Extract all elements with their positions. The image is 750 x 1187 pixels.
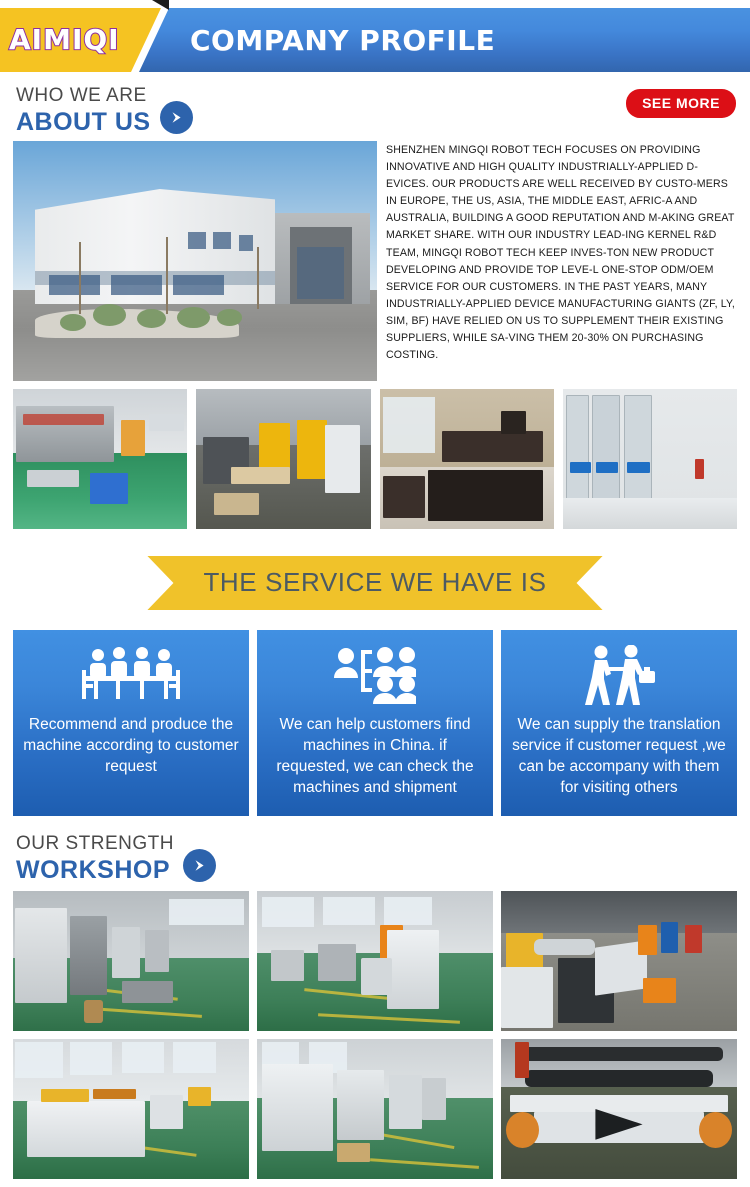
service-card-3-text: We can supply the translation service if…	[501, 706, 737, 798]
photo-corridor	[563, 389, 737, 529]
meeting-table-icon	[82, 644, 180, 706]
photo-production-line	[13, 389, 187, 529]
about-content: SHENZHEN MINGQI ROBOT TECH FOCUSES ON PR…	[0, 141, 750, 381]
photo-rewinding-aisle	[257, 891, 493, 1031]
org-chart-team-icon	[334, 644, 416, 706]
workshop-kicker: OUR STRENGTH	[16, 834, 174, 853]
service-card-2[interactable]: We can help customers find machines in C…	[257, 630, 493, 816]
page-title: COMPANY PROFILE	[190, 8, 495, 72]
workshop-heading-texts: OUR STRENGTH WORKSHOP	[16, 834, 174, 883]
workshop-photos-row-2	[0, 1039, 750, 1187]
brand-logo-text: AIMIQI	[0, 26, 120, 54]
about-photo-strip	[0, 381, 750, 529]
photo-assembly-area	[501, 891, 737, 1031]
about-heading-texts: WHO WE ARE ABOUT US	[16, 86, 151, 135]
workshop-section-header: OUR STRENGTH WORKSHOP	[0, 816, 750, 891]
see-more-button[interactable]: SEE MORE	[626, 89, 736, 118]
photo-slitting-workshop	[196, 389, 370, 529]
service-card-1-text: Recommend and produce the machine accord…	[13, 706, 249, 777]
play-arrow-circle-icon	[183, 849, 216, 882]
photo-extrusion-line	[13, 1039, 249, 1179]
service-card-1[interactable]: Recommend and produce the machine accord…	[13, 630, 249, 816]
service-cards: Recommend and produce the machine accord…	[0, 630, 750, 816]
about-paragraph: SHENZHEN MINGQI ROBOT TECH FOCUSES ON PR…	[386, 141, 737, 364]
workshop-photos-row-1	[0, 891, 750, 1039]
service-card-3[interactable]: We can supply the translation service if…	[501, 630, 737, 816]
about-title: ABOUT US	[16, 110, 151, 135]
handshake-business-icon	[581, 644, 657, 706]
service-ribbon-wrap: THE SERVICE WE HAVE IS	[0, 529, 750, 630]
workshop-title: WORKSHOP	[16, 858, 174, 883]
photo-laminating-rollers	[501, 1039, 737, 1179]
service-card-2-text: We can help customers find machines in C…	[257, 706, 493, 798]
service-ribbon-label: THE SERVICE WE HAVE IS	[147, 556, 602, 610]
page-header: AIMIQI COMPANY PROFILE	[0, 0, 750, 72]
about-kicker: WHO WE ARE	[16, 86, 151, 105]
photo-office-lounge	[380, 389, 554, 529]
about-section-header: WHO WE ARE ABOUT US SEE MORE	[0, 72, 750, 141]
photo-machine-frames	[257, 1039, 493, 1179]
photo-slitting-machine-line	[13, 891, 249, 1031]
play-arrow-circle-icon	[160, 101, 193, 134]
company-building-photo	[13, 141, 377, 381]
